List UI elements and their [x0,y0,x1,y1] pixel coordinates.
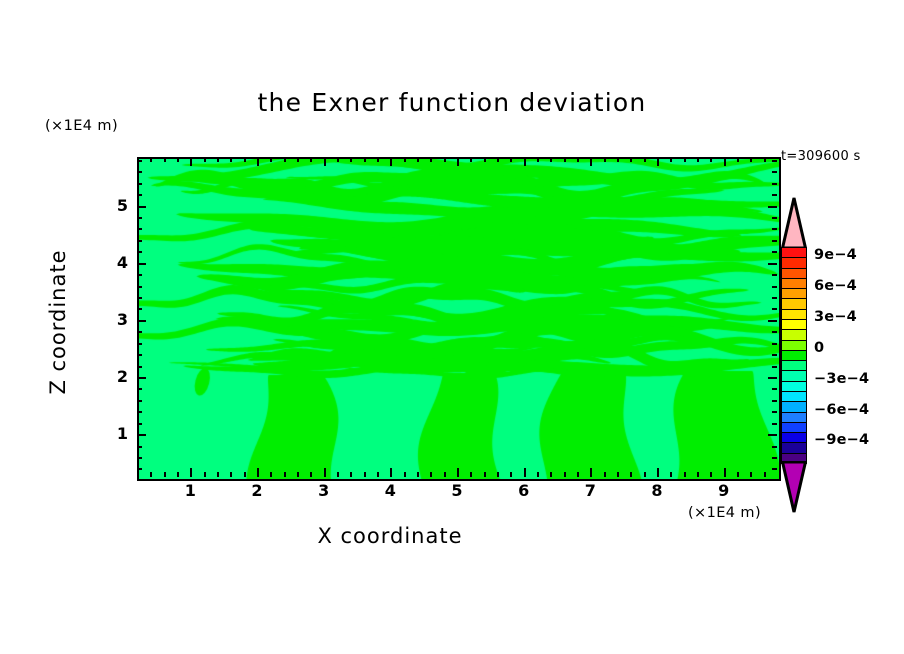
x-tick-minor [217,157,219,162]
y-tick-minor [772,354,777,356]
x-tick-minor [377,472,379,477]
y-tick-minor [772,457,777,459]
x-tick-minor [670,157,672,162]
x-tick-minor [230,157,232,162]
y-tick-minor [137,160,142,162]
x-tick-minor [150,157,152,162]
colorbar-cap-bottom [781,461,807,513]
x-tick-minor [444,472,446,477]
x-tick-minor [284,157,286,162]
x-tick-major [590,157,592,166]
colorbar-tick-label: 9e−4 [814,247,857,263]
x-tick-minor [297,157,299,162]
colorbar-tick-label: −6e−4 [814,402,869,418]
y-tick-minor [772,423,777,425]
y-tick-minor [137,366,142,368]
x-tick-minor [470,472,472,477]
x-tick-minor [537,157,539,162]
x-tick-minor [150,472,152,477]
x-tick-major [524,468,526,477]
x-tick-label: 6 [504,481,544,500]
y-tick-minor [772,411,777,413]
y-tick-minor [137,286,142,288]
x-tick-major [324,468,326,477]
x-tick-minor [604,157,606,162]
x-tick-minor [364,157,366,162]
contour-field [139,159,779,479]
x-tick-minor [550,157,552,162]
y-tick-major [137,434,146,436]
y-tick-major [137,320,146,322]
x-tick-minor [617,472,619,477]
x-tick-major [524,157,526,166]
x-tick-major [390,468,392,477]
y-tick-minor [137,457,142,459]
x-tick-minor [684,472,686,477]
x-tick-major [657,468,659,477]
x-tick-minor [244,472,246,477]
y-tick-minor [772,183,777,185]
x-tick-major [724,468,726,477]
y-tick-minor [772,446,777,448]
colorbar-tick-label: 0 [814,340,824,356]
x-tick-minor [270,157,272,162]
x-tick-minor [164,157,166,162]
x-tick-minor [204,472,206,477]
x-tick-minor [310,472,312,477]
x-tick-minor [497,157,499,162]
y-tick-minor [137,388,142,390]
y-tick-minor [772,308,777,310]
x-tick-label: 7 [570,481,610,500]
figure-canvas: the Exner function deviation (×1E4 m) (×… [0,0,904,654]
x-tick-label: 3 [304,481,344,500]
y-tick-minor [772,194,777,196]
x-tick-minor [350,472,352,477]
x-tick-minor [697,472,699,477]
x-tick-minor [550,472,552,477]
x-tick-minor [177,472,179,477]
y-tick-minor [772,297,777,299]
page-title: the Exner function deviation [0,88,904,117]
x-tick-minor [710,157,712,162]
x-tick-major [257,468,259,477]
x-tick-minor [270,472,272,477]
x-tick-minor [617,157,619,162]
y-tick-minor [137,251,142,253]
y-tick-minor [772,388,777,390]
x-tick-minor [284,472,286,477]
x-tick-major [257,157,259,166]
y-tick-label: 5 [88,196,128,215]
x-tick-minor [497,472,499,477]
y-tick-minor [137,354,142,356]
y-tick-minor [137,217,142,219]
y-tick-major [137,206,146,208]
x-tick-minor [417,472,419,477]
x-tick-label: 1 [170,481,210,500]
x-tick-label: 4 [370,481,410,500]
y-tick-minor [137,228,142,230]
x-tick-major [457,468,459,477]
x-tick-label: 8 [637,481,677,500]
y-tick-major [768,206,777,208]
x-tick-minor [430,472,432,477]
y-tick-major [137,377,146,379]
x-tick-minor [737,157,739,162]
y-tick-minor [137,240,142,242]
y-tick-minor [772,228,777,230]
y-tick-minor [772,160,777,162]
y-tick-minor [772,400,777,402]
x-tick-minor [670,472,672,477]
y-tick-label: 1 [88,424,128,443]
x-tick-major [457,157,459,166]
y-tick-minor [137,297,142,299]
x-tick-minor [404,472,406,477]
y-tick-minor [772,251,777,253]
x-tick-minor [630,472,632,477]
x-axis-title: X coordinate [0,524,780,548]
x-tick-minor [644,472,646,477]
y-tick-minor [772,217,777,219]
x-tick-minor [710,472,712,477]
x-tick-minor [684,157,686,162]
x-tick-major [190,157,192,166]
y-tick-major [137,263,146,265]
x-tick-major [190,468,192,477]
y-tick-minor [772,240,777,242]
y-axis-title: Z coordinate [46,242,70,402]
x-tick-minor [510,157,512,162]
x-tick-major [390,157,392,166]
x-tick-minor [764,472,766,477]
x-tick-minor [430,157,432,162]
x-tick-minor [177,157,179,162]
x-tick-label: 5 [437,481,477,500]
x-tick-minor [217,472,219,477]
x-axis-unit-label: (×1E4 m) [688,505,761,521]
x-tick-minor [750,157,752,162]
x-tick-minor [444,157,446,162]
x-tick-minor [337,472,339,477]
colorbar-tick-label: 6e−4 [814,278,857,294]
colorbar-tick-label: −3e−4 [814,371,869,387]
y-tick-minor [137,308,142,310]
y-tick-major [768,320,777,322]
x-tick-label: 2 [237,481,277,500]
colorbar-tick-label: −9e−4 [814,432,869,448]
y-tick-minor [772,286,777,288]
y-tick-minor [137,343,142,345]
x-tick-minor [470,157,472,162]
y-tick-minor [137,468,142,470]
x-tick-minor [644,157,646,162]
x-tick-minor [377,157,379,162]
y-tick-label: 4 [88,253,128,272]
colorbar [781,247,807,463]
x-tick-minor [364,472,366,477]
y-tick-major [768,434,777,436]
x-tick-minor [737,472,739,477]
x-tick-minor [697,157,699,162]
x-tick-minor [230,472,232,477]
y-tick-minor [137,331,142,333]
x-tick-minor [577,157,579,162]
y-axis-unit-label: (×1E4 m) [45,118,118,134]
y-tick-minor [772,331,777,333]
x-tick-minor [404,157,406,162]
y-tick-minor [137,446,142,448]
y-tick-minor [137,274,142,276]
x-tick-minor [564,157,566,162]
x-tick-major [590,468,592,477]
x-tick-major [724,157,726,166]
x-tick-minor [577,472,579,477]
colorbar-cap-top [781,197,807,249]
y-tick-minor [772,274,777,276]
y-tick-minor [137,183,142,185]
y-tick-minor [137,400,142,402]
x-tick-minor [537,472,539,477]
contour-plot-area [137,157,781,481]
x-tick-minor [750,472,752,477]
x-tick-major [324,157,326,166]
y-tick-label: 3 [88,310,128,329]
x-tick-label: 9 [704,481,744,500]
y-tick-minor [772,468,777,470]
x-tick-minor [630,157,632,162]
y-tick-major [768,263,777,265]
y-tick-minor [772,343,777,345]
x-tick-minor [484,157,486,162]
x-tick-major [657,157,659,166]
x-tick-minor [764,157,766,162]
y-tick-minor [137,423,142,425]
y-tick-major [768,377,777,379]
x-tick-minor [164,472,166,477]
x-tick-minor [350,157,352,162]
y-tick-minor [772,171,777,173]
x-tick-minor [510,472,512,477]
x-tick-minor [337,157,339,162]
x-tick-minor [204,157,206,162]
y-tick-label: 2 [88,367,128,386]
y-tick-minor [772,366,777,368]
x-tick-minor [564,472,566,477]
x-tick-minor [604,472,606,477]
timestamp-label: t=309600 s [781,149,861,164]
y-tick-minor [137,411,142,413]
y-tick-minor [137,194,142,196]
colorbar-tick-label: 3e−4 [814,309,857,325]
x-tick-minor [297,472,299,477]
x-tick-minor [244,157,246,162]
x-tick-minor [310,157,312,162]
x-tick-minor [484,472,486,477]
y-tick-minor [137,171,142,173]
x-tick-minor [417,157,419,162]
